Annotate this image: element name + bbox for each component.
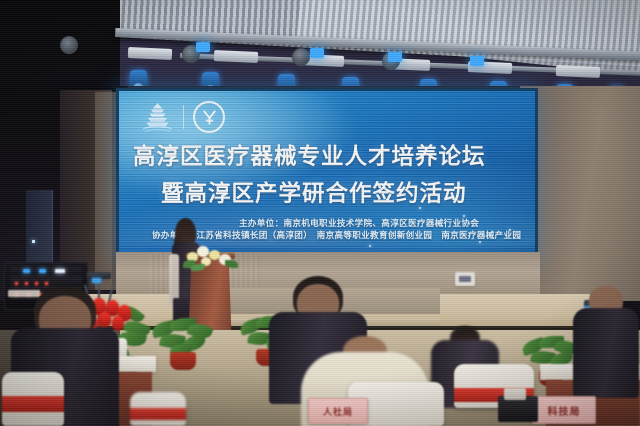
screen-subtitle-line-1: 主办单位：南京机电职业技术学院、高淳区医疗器械行业协会 [239,217,479,229]
stage-lamp-housing [128,47,172,60]
screen-logo-row [141,101,225,133]
speaker-indicator-led [32,240,35,243]
audience-person-right [572,286,640,396]
pagoda-logo-icon [141,102,174,133]
potted-plant [152,318,214,370]
pa-speaker-cabinet [26,190,53,270]
blue-light-glow [388,52,402,62]
ceiling [0,0,640,96]
audience-chair [130,392,186,426]
name-card-keji: 科技局 [532,396,596,424]
screen-title-line-1: 高淳区医疗器械专业人才培养论坛 [133,139,486,171]
cable-reel [292,48,310,66]
podium-flower-arrangement [183,238,239,272]
logo-divider [183,105,184,129]
tripod-blue-light [92,278,101,283]
screen-title-line-2: 暨高淳区产学研合作签约活动 [161,176,467,208]
conference-photo-scene: 高淳区医疗器械专业人才培养论坛 暨高淳区产学研合作签约活动 主办单位：南京机电职… [0,0,640,426]
white-object-on-table [504,388,526,400]
cable-reel [60,36,78,54]
stage-lamp-housing [556,65,600,78]
blue-light-glow [310,48,324,58]
health-emblem-logo-icon [193,101,225,133]
audience-chair [2,372,64,426]
blue-light-glow [470,56,484,66]
wall-outlet [455,272,475,286]
blue-light-glow [196,42,210,52]
name-card-renshe: 人社局 [308,398,368,424]
stage-lamp-housing [214,50,258,63]
